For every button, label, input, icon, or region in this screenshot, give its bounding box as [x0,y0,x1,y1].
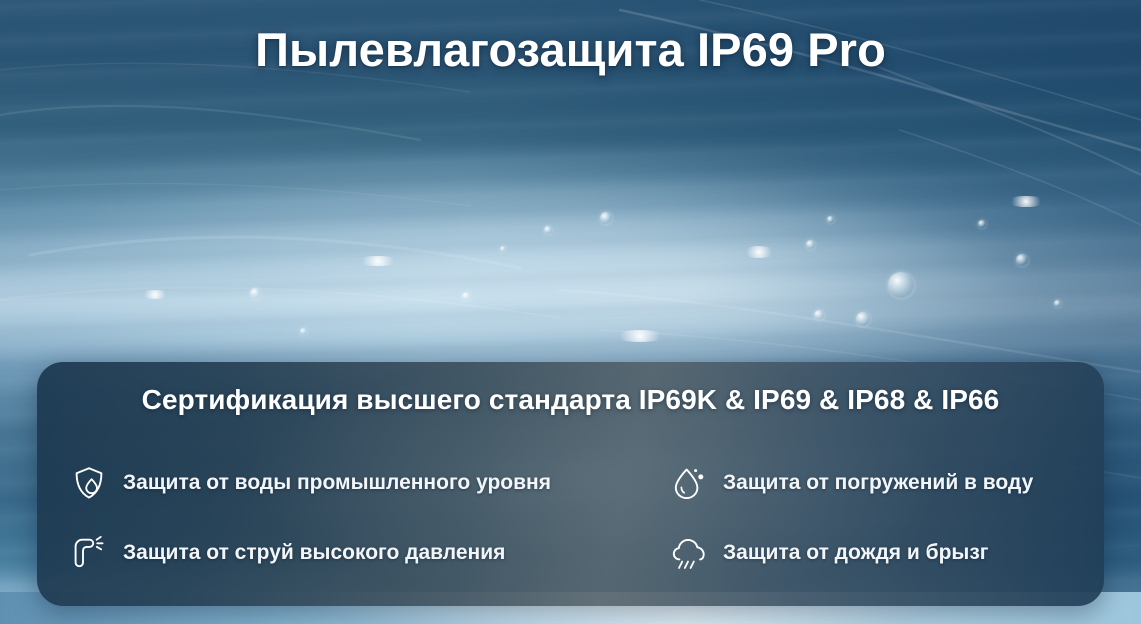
water-bubble [856,312,870,326]
water-bubble [806,240,815,249]
feature-item-immersion: Защита от погружений в воду [671,465,1078,501]
water-bubble [1054,300,1061,307]
certification-panel: Сертификация высшего стандарта IP69K & I… [37,362,1104,606]
water-bubble [827,216,834,223]
water-bubble [300,328,307,335]
pressure-jet-nozzle-icon [71,535,107,571]
rain-cloud-icon [671,535,707,571]
feature-label: Защита от дождя и брызг [723,541,989,565]
feature-item-industrial-water: Защита от воды промышленного уровня [71,465,671,501]
shield-water-drop-icon [71,465,107,501]
promo-banner: Пылевлагозащита IP69 Pro Сертификация вы… [0,0,1141,624]
feature-item-high-pressure-jet: Защита от струй высокого давления [71,535,671,571]
water-bubble [888,272,914,298]
water-bubble [814,310,824,320]
feature-label: Защита от воды промышленного уровня [123,471,551,495]
water-sparkle [612,330,668,342]
water-bubble [544,226,552,234]
water-bubble [600,212,612,224]
water-bubble [978,220,986,228]
feature-label: Защита от струй высокого давления [123,541,505,565]
water-sparkle [1006,196,1046,207]
water-drop-splash-icon [671,465,707,501]
water-bubble [462,292,471,301]
water-bubble [500,246,506,252]
water-bubble [1016,254,1028,266]
feature-label: Защита от погружений в воду [723,471,1033,495]
water-sparkle [742,246,776,258]
feature-list: Защита от воды промышленного уровня Защи… [71,448,1078,588]
water-sparkle [140,290,170,299]
page-title: Пылевлагозащита IP69 Pro [0,22,1141,77]
certification-heading: Сертификация высшего стандарта IP69K & I… [37,384,1104,416]
water-bubble [250,288,261,299]
water-sparkle [356,256,400,266]
feature-item-rain-splash: Защита от дождя и брызг [671,535,1078,571]
